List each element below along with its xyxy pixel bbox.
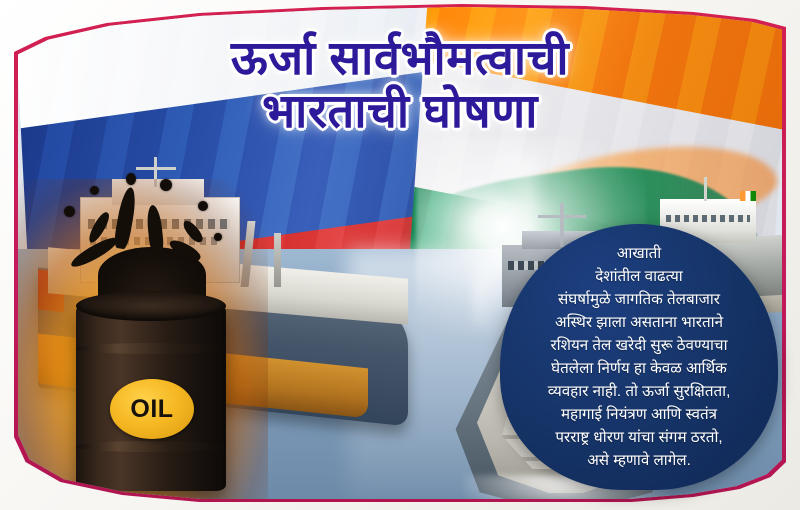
oil-barrel: OIL (76, 291, 226, 491)
tanker-mast-crossarm (538, 215, 586, 218)
oil-droplet (198, 201, 208, 211)
oil-splash-arm (181, 218, 205, 246)
poster-canvas: OIL ऊर्जा सार्वभौमत्वाची भारताची घोषणा आ… (0, 0, 800, 510)
page-title-line-2: भारताची घोषणा (0, 87, 800, 136)
oil-barrel-rib (76, 343, 226, 354)
tanker-crane (274, 233, 281, 287)
ship-bridge-windows (666, 215, 750, 222)
tanker-mast (560, 203, 564, 247)
body-text-line: अस्थिर झाला असताना भारताने (508, 311, 770, 334)
oil-barrel-label-text: OIL (130, 395, 173, 424)
body-text-line: संघर्षामुळे जागतिक तेलबाजार (508, 288, 770, 311)
oil-droplet (214, 233, 222, 241)
oil-barrel-rib (76, 441, 226, 452)
body-text-line: रशियन तेल खरेदी सुरू ठेवण्याचा (508, 334, 770, 357)
tanker-mast-crossarm (136, 167, 176, 170)
oil-barrel-label: OIL (110, 379, 194, 439)
oil-droplet (126, 173, 136, 185)
oil-droplet (160, 179, 172, 191)
page-title: ऊर्जा सार्वभौमत्वाची भारताची घोषणा (0, 34, 800, 136)
body-text-line: देशांतील वाढत्या (508, 265, 770, 288)
body-text-line: परराष्ट्र धोरण यांचा संगम ठरतो, (508, 426, 770, 449)
india-tricolour-pennant (740, 191, 756, 201)
body-text-line: घेतलेला निर्णय हा केवळ आर्थिक (508, 357, 770, 380)
oil-droplet (90, 186, 99, 195)
oil-droplet (64, 206, 75, 217)
body-text: आखाती देशांतील वाढत्या संघर्षामुळे जागति… (500, 236, 778, 479)
body-text-line: महागाई नियंत्रण आणि स्वतंत्र (508, 403, 770, 426)
oil-splash (64, 173, 234, 303)
oil-splash-arm (113, 186, 139, 250)
page-title-line-1: ऊर्जा सार्वभौमत्वाची (231, 31, 569, 84)
body-text-line: व्यवहार नाही. तो ऊर्जा सुरक्षितता, (508, 380, 770, 403)
ship-mast (704, 177, 707, 201)
oil-barrel-opening (76, 291, 226, 321)
